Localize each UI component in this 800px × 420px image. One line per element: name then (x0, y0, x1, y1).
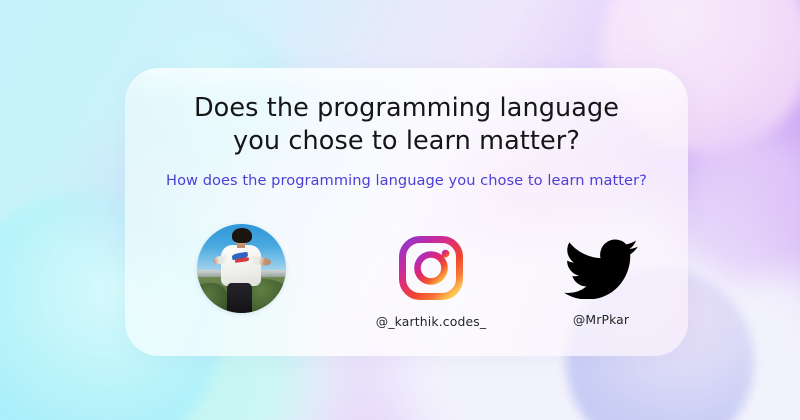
social-item-twitter[interactable]: @MrPkar (491, 224, 688, 327)
avatar-photo-pants (227, 283, 252, 313)
twitter-handle: @MrPkar (491, 312, 688, 327)
instagram-icon[interactable] (398, 235, 464, 301)
page-subtitle: How does the programming language you ch… (125, 172, 688, 191)
card-content: Does the programming language you chose … (125, 68, 688, 356)
social-item-profile[interactable] (131, 224, 351, 326)
poster-canvas: Does the programming language you chose … (0, 0, 800, 420)
avatar-photo-shirt (221, 245, 262, 286)
page-title: Does the programming language you chose … (125, 92, 688, 158)
glass-card: Does the programming language you chose … (125, 68, 688, 356)
avatar-photo-bush-left (197, 283, 227, 313)
twitter-bird-icon[interactable] (564, 237, 638, 299)
avatar (197, 224, 286, 313)
avatar-photo-hair (232, 228, 252, 242)
social-row: @_karthik.codes_ @MrPkar (125, 224, 688, 344)
